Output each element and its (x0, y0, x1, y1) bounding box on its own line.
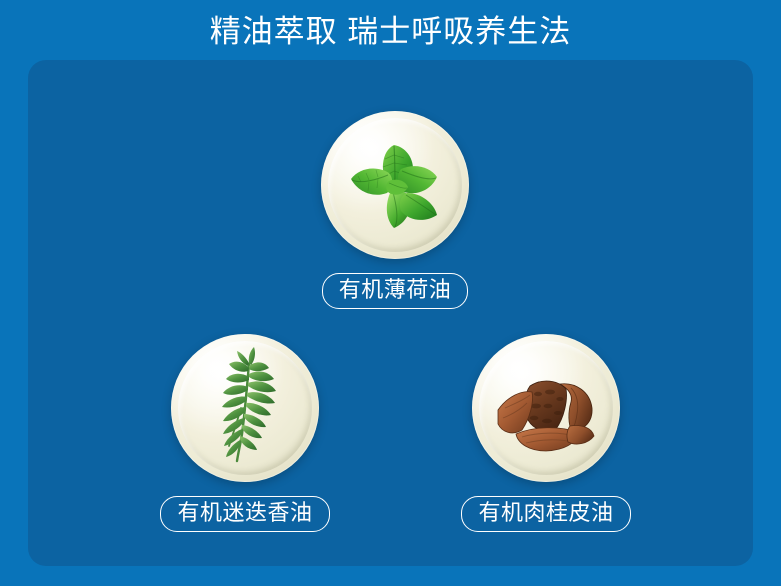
cinnamon-bark-icon (472, 334, 620, 482)
ingredient-card-rosemary: 有机迷迭香油 (145, 334, 345, 532)
product-feature-poster: 精油萃取 瑞士呼吸养生法 (0, 0, 781, 586)
ingredient-label-peppermint: 有机薄荷油 (322, 273, 469, 309)
ingredient-label-wrap-cinnamon: 有机肉桂皮油 (446, 496, 646, 532)
page-title: 精油萃取 瑞士呼吸养生法 (0, 12, 781, 52)
ingredient-card-cinnamon: 有机肉桂皮油 (446, 334, 646, 532)
ingredient-label-wrap-peppermint: 有机薄荷油 (295, 273, 495, 309)
oil-droplet-cinnamon (472, 334, 620, 482)
mint-leaves-icon (321, 111, 469, 259)
oil-droplet-rosemary (171, 334, 319, 482)
rosemary-sprig-icon (171, 334, 319, 482)
ingredient-label-wrap-rosemary: 有机迷迭香油 (145, 496, 345, 532)
oil-droplet-peppermint (321, 111, 469, 259)
ingredient-label-cinnamon: 有机肉桂皮油 (461, 496, 630, 532)
ingredient-card-peppermint: 有机薄荷油 (295, 111, 495, 309)
ingredient-label-rosemary: 有机迷迭香油 (160, 496, 329, 532)
